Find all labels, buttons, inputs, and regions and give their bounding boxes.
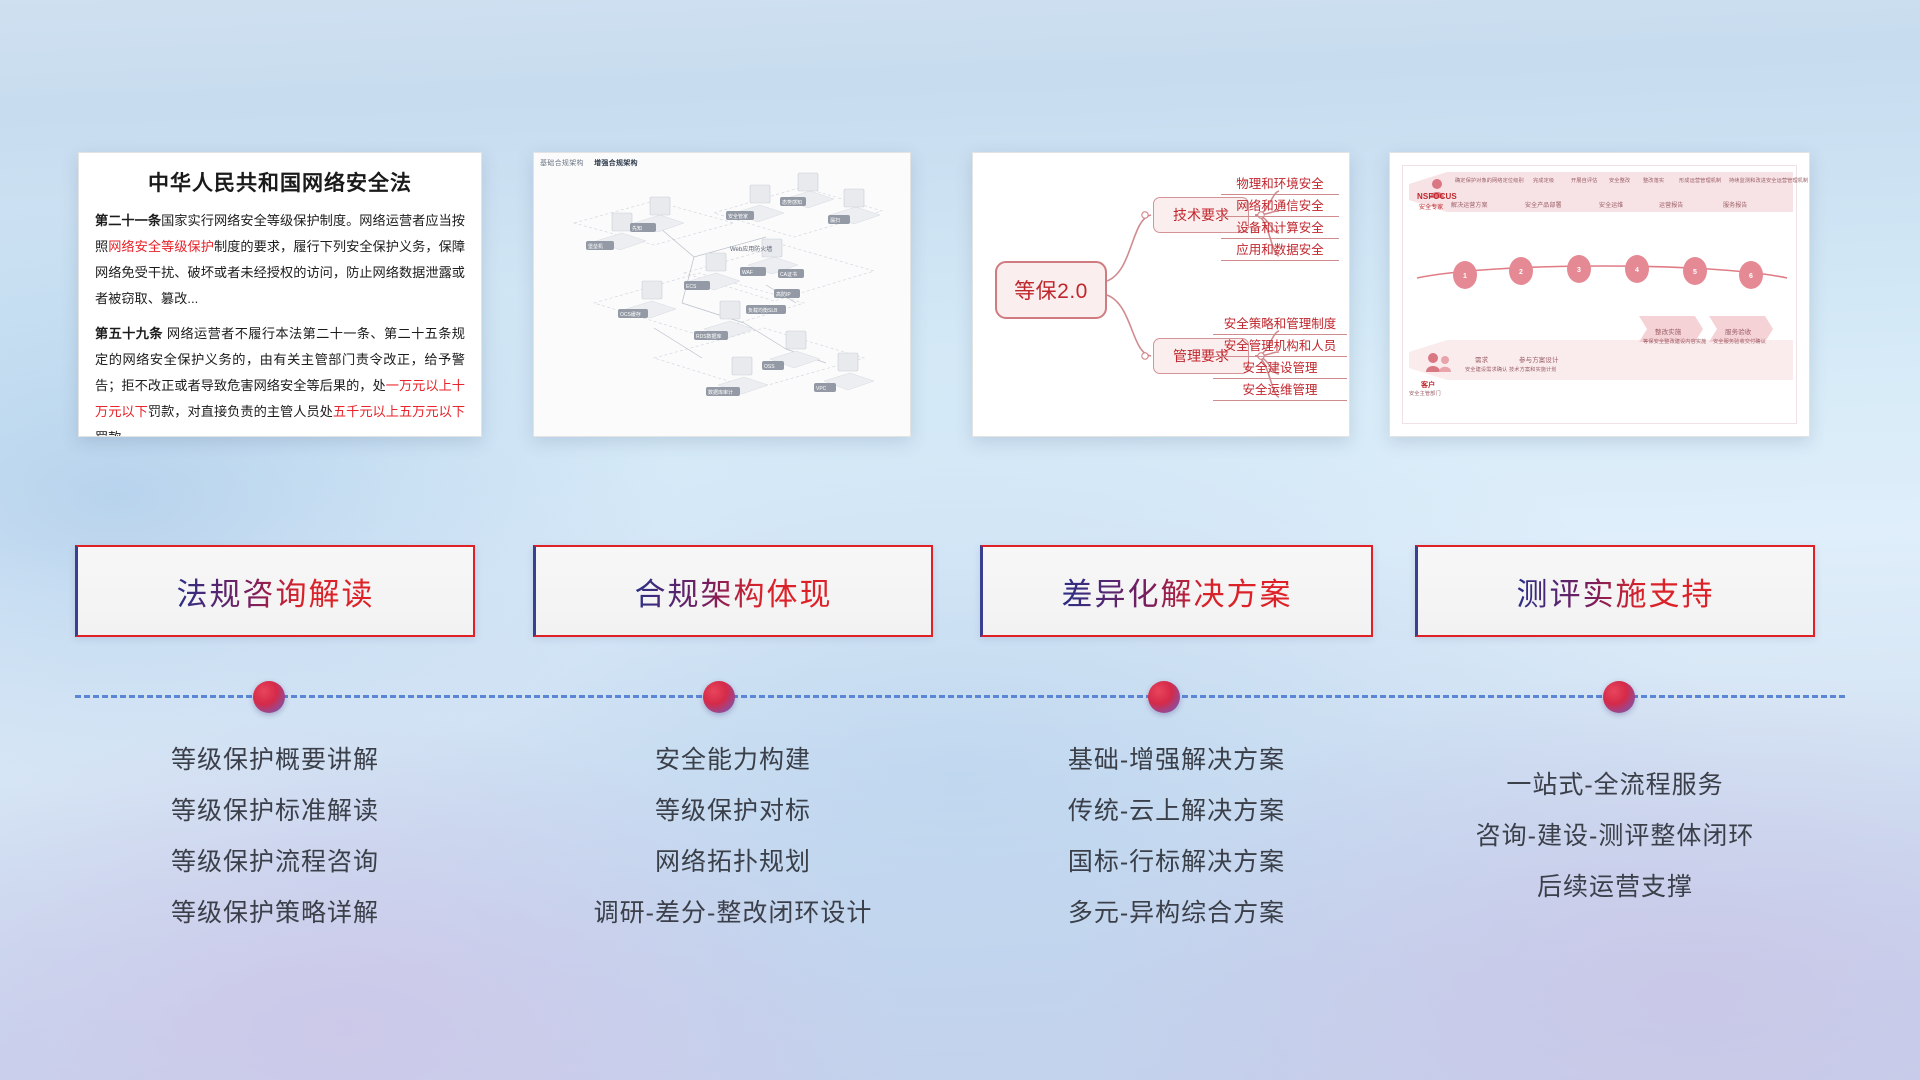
mindmap: 等保2.0 技术要求 管理要求 物理和环境安全 网络和通信安全 设备和计算安全 … xyxy=(973,153,1349,436)
mindmap-leaf-policy: 安全策略和管理制度 xyxy=(1213,311,1347,335)
service-title-label-3: 差异化解决方案 xyxy=(1062,569,1293,614)
service-title-box-1[interactable]: 法规咨询解读 xyxy=(75,545,475,637)
law-article-59-highlight-2: 五千元以上五万元以下 xyxy=(333,404,465,419)
svg-text:2: 2 xyxy=(1519,269,1523,276)
service-list-1: 等级保护概要讲解 等级保护标准解读 等级保护流程咨询 等级保护策略详解 xyxy=(75,735,475,939)
list-item: 调研-差分-整改闭环设计 xyxy=(533,888,933,939)
law-article-21: 第二十一条国家实行网络安全等级保护制度。网络运营者应当按照网络安全等级保护制度的… xyxy=(95,208,465,312)
roadmap-top-label-4: 安全整改 xyxy=(1609,177,1630,184)
list-item: 等级保护策略详解 xyxy=(75,888,475,939)
roadmap-bottom-label-3: 整改实施 xyxy=(1655,326,1681,336)
mindmap-leaf-application: 应用和数据安全 xyxy=(1221,237,1339,261)
svg-text:高防IP: 高防IP xyxy=(776,291,791,298)
list-item: 等级保护对标 xyxy=(533,786,933,837)
timeline-dot-3[interactable] xyxy=(1148,681,1180,713)
roadmap-top-label-5: 整改落实 xyxy=(1643,177,1664,184)
svg-text:3: 3 xyxy=(1577,267,1581,274)
svg-text:漏扫: 漏扫 xyxy=(830,217,840,224)
roadmap-bottom-sub-1: 安全建设需求确认 xyxy=(1465,366,1507,373)
service-title-label-2: 合规架构体现 xyxy=(635,569,833,614)
mindmap-root-node: 等保2.0 xyxy=(995,261,1107,319)
service-list-4: 一站式-全流程服务 咨询-建设-测评整体闭环 后续运营支撑 xyxy=(1415,760,1815,913)
law-title: 中华人民共和国网络安全法 xyxy=(95,167,465,197)
service-title-label-1: 法规咨询解读 xyxy=(177,569,375,614)
roadmap-bottom-sub-4: 安全服务验收交付确认 xyxy=(1713,338,1766,345)
law-text-body: 中华人民共和国网络安全法 第二十一条国家实行网络安全等级保护制度。网络运营者应当… xyxy=(79,153,481,437)
service-title-box-2[interactable]: 合规架构体现 xyxy=(533,545,933,637)
roadmap-customer-sub: 安全主管部门 xyxy=(1409,390,1441,397)
list-item: 国标-行标解决方案 xyxy=(980,837,1373,888)
list-item: 等级保护标准解读 xyxy=(75,786,475,837)
timeline-dashed-line xyxy=(75,695,1845,698)
law-article-21-label: 第二十一条 xyxy=(95,213,161,228)
svg-text:OCS缓存: OCS缓存 xyxy=(620,311,641,318)
svg-text:4: 4 xyxy=(1635,267,1639,274)
svg-text:先知: 先知 xyxy=(632,225,642,232)
roadmap-diagram: 1 2 3 4 5 6 xyxy=(1390,153,1809,436)
law-article-59-part3: 罚款。 xyxy=(95,430,135,437)
timeline-dot-1[interactable] xyxy=(253,681,285,713)
roadmap-brand-sub: 安全专家 xyxy=(1419,202,1443,211)
service-list-3: 基础-增强解决方案 传统-云上解决方案 国标-行标解决方案 多元-异构综合方案 xyxy=(980,735,1373,939)
svg-text:5: 5 xyxy=(1693,269,1697,276)
mindmap-leaf-operation: 安全运维管理 xyxy=(1213,377,1347,401)
list-item: 咨询-建设-测评整体闭环 xyxy=(1415,811,1815,862)
law-article-59: 第五十九条 网络运营者不履行本法第二十一条、第二十五条规定的网络安全保护义务的，… xyxy=(95,321,465,437)
roadmap-top-label-2: 完成定级 xyxy=(1533,177,1554,184)
list-item: 网络拓扑规划 xyxy=(533,837,933,888)
timeline-dot-2[interactable] xyxy=(703,681,735,713)
mindmap-leaf-physical: 物理和环境安全 xyxy=(1221,171,1339,195)
roadmap-top-label-6: 形成运营管理机制 xyxy=(1679,177,1721,184)
mindmap-leaf-construction: 安全建设管理 xyxy=(1213,355,1347,379)
list-item: 等级保护概要讲解 xyxy=(75,735,475,786)
roadmap-bottom-label-1: 需求 xyxy=(1475,354,1488,364)
roadmap-service-4: 运营报告 xyxy=(1659,200,1683,209)
list-item: 安全能力构建 xyxy=(533,735,933,786)
roadmap-bottom-label-2: 参与方案设计 xyxy=(1519,354,1559,364)
architecture-svg: 堡垒机 先知 安全管家 态势感知 漏扫 ECS WAF OCS缓存 RDS数据库… xyxy=(534,153,911,437)
list-item: 后续运营支撑 xyxy=(1415,862,1815,913)
roadmap-top-label-3: 开展自评估 xyxy=(1571,177,1597,184)
law-article-59-label: 第五十九条 xyxy=(95,326,163,341)
roadmap-bottom-sub-3: 等保安全整改建设内容实施 xyxy=(1643,338,1706,345)
card-compliance-architecture: 基础合规架构 增强合规架构 xyxy=(533,152,911,437)
roadmap-top-label-7: 持续监测和改进安全运营管理机制 xyxy=(1729,177,1808,184)
mindmap-leaf-org: 安全管理机构和人员 xyxy=(1213,333,1347,357)
svg-text:ECS: ECS xyxy=(686,284,697,290)
svg-text:态势感知: 态势感知 xyxy=(782,199,802,206)
roadmap-bottom-label-4: 服务验收 xyxy=(1725,326,1751,336)
svg-text:安全管家: 安全管家 xyxy=(728,213,748,220)
service-title-box-4[interactable]: 测评实施支持 xyxy=(1415,545,1815,637)
law-article-59-part2: 罚款，对直接负责的主管人员处 xyxy=(148,404,333,419)
timeline-dot-4[interactable] xyxy=(1603,681,1635,713)
list-item: 一站式-全流程服务 xyxy=(1415,760,1815,811)
svg-text:CA证书: CA证书 xyxy=(780,271,797,278)
service-list-2: 安全能力构建 等级保护对标 网络拓扑规划 调研-差分-整改闭环设计 xyxy=(533,735,933,939)
svg-text:RDS数据库: RDS数据库 xyxy=(696,333,722,340)
list-item: 等级保护流程咨询 xyxy=(75,837,475,888)
svg-text:WAF: WAF xyxy=(742,270,753,276)
list-item: 基础-增强解决方案 xyxy=(980,735,1373,786)
svg-text:1: 1 xyxy=(1463,273,1467,280)
svg-text:6: 6 xyxy=(1749,273,1753,280)
service-detail-lists: 等级保护概要讲解 等级保护标准解读 等级保护流程咨询 等级保护策略详解 安全能力… xyxy=(0,735,1920,995)
list-item: 传统-云上解决方案 xyxy=(980,786,1373,837)
timeline xyxy=(0,675,1920,735)
svg-text:VPC: VPC xyxy=(816,386,827,392)
roadmap-bottom-sub-2: 技术方案和实施计划 xyxy=(1509,366,1557,373)
service-title-box-3[interactable]: 差异化解决方案 xyxy=(980,545,1373,637)
card-service-roadmap: 1 2 3 4 5 6 xyxy=(1389,152,1810,437)
roadmap-service-1: 解决运营方案 xyxy=(1451,200,1488,209)
roadmap-customer: 客户 xyxy=(1421,380,1435,390)
reference-cards-row: 中华人民共和国网络安全法 第二十一条国家实行网络安全等级保护制度。网络运营者应当… xyxy=(0,0,1920,300)
roadmap-inner: 1 2 3 4 5 6 xyxy=(1402,165,1797,424)
svg-text:堡垒机: 堡垒机 xyxy=(588,243,603,250)
service-title-label-4: 测评实施支持 xyxy=(1517,569,1715,614)
roadmap-service-2: 安全产品部署 xyxy=(1525,200,1562,209)
svg-text:Web应用防火墙: Web应用防火墙 xyxy=(730,245,772,253)
roadmap-service-3: 安全运维 xyxy=(1599,200,1623,209)
roadmap-service-5: 服务报告 xyxy=(1723,200,1747,209)
architecture-diagram: 基础合规架构 增强合规架构 xyxy=(534,153,910,436)
mindmap-leaf-device: 设备和计算安全 xyxy=(1221,215,1339,239)
svg-text:OSS: OSS xyxy=(764,364,775,370)
service-title-row: 法规咨询解读 合规架构体现 差异化解决方案 测评实施支持 xyxy=(0,545,1920,645)
card-cybersecurity-law: 中华人民共和国网络安全法 第二十一条国家实行网络安全等级保护制度。网络运营者应当… xyxy=(78,152,482,437)
svg-text:负载均衡SLB: 负载均衡SLB xyxy=(748,307,778,314)
mindmap-leaf-network: 网络和通信安全 xyxy=(1221,193,1339,217)
card-mindmap-dengbao: 等保2.0 技术要求 管理要求 物理和环境安全 网络和通信安全 设备和计算安全 … xyxy=(972,152,1350,437)
roadmap-top-label-1: 确定保护对象的网络定位级别 xyxy=(1455,177,1524,184)
list-item: 多元-异构综合方案 xyxy=(980,888,1373,939)
law-article-21-highlight: 网络安全等级保护 xyxy=(108,239,214,254)
svg-text:数据库审计: 数据库审计 xyxy=(708,389,733,396)
